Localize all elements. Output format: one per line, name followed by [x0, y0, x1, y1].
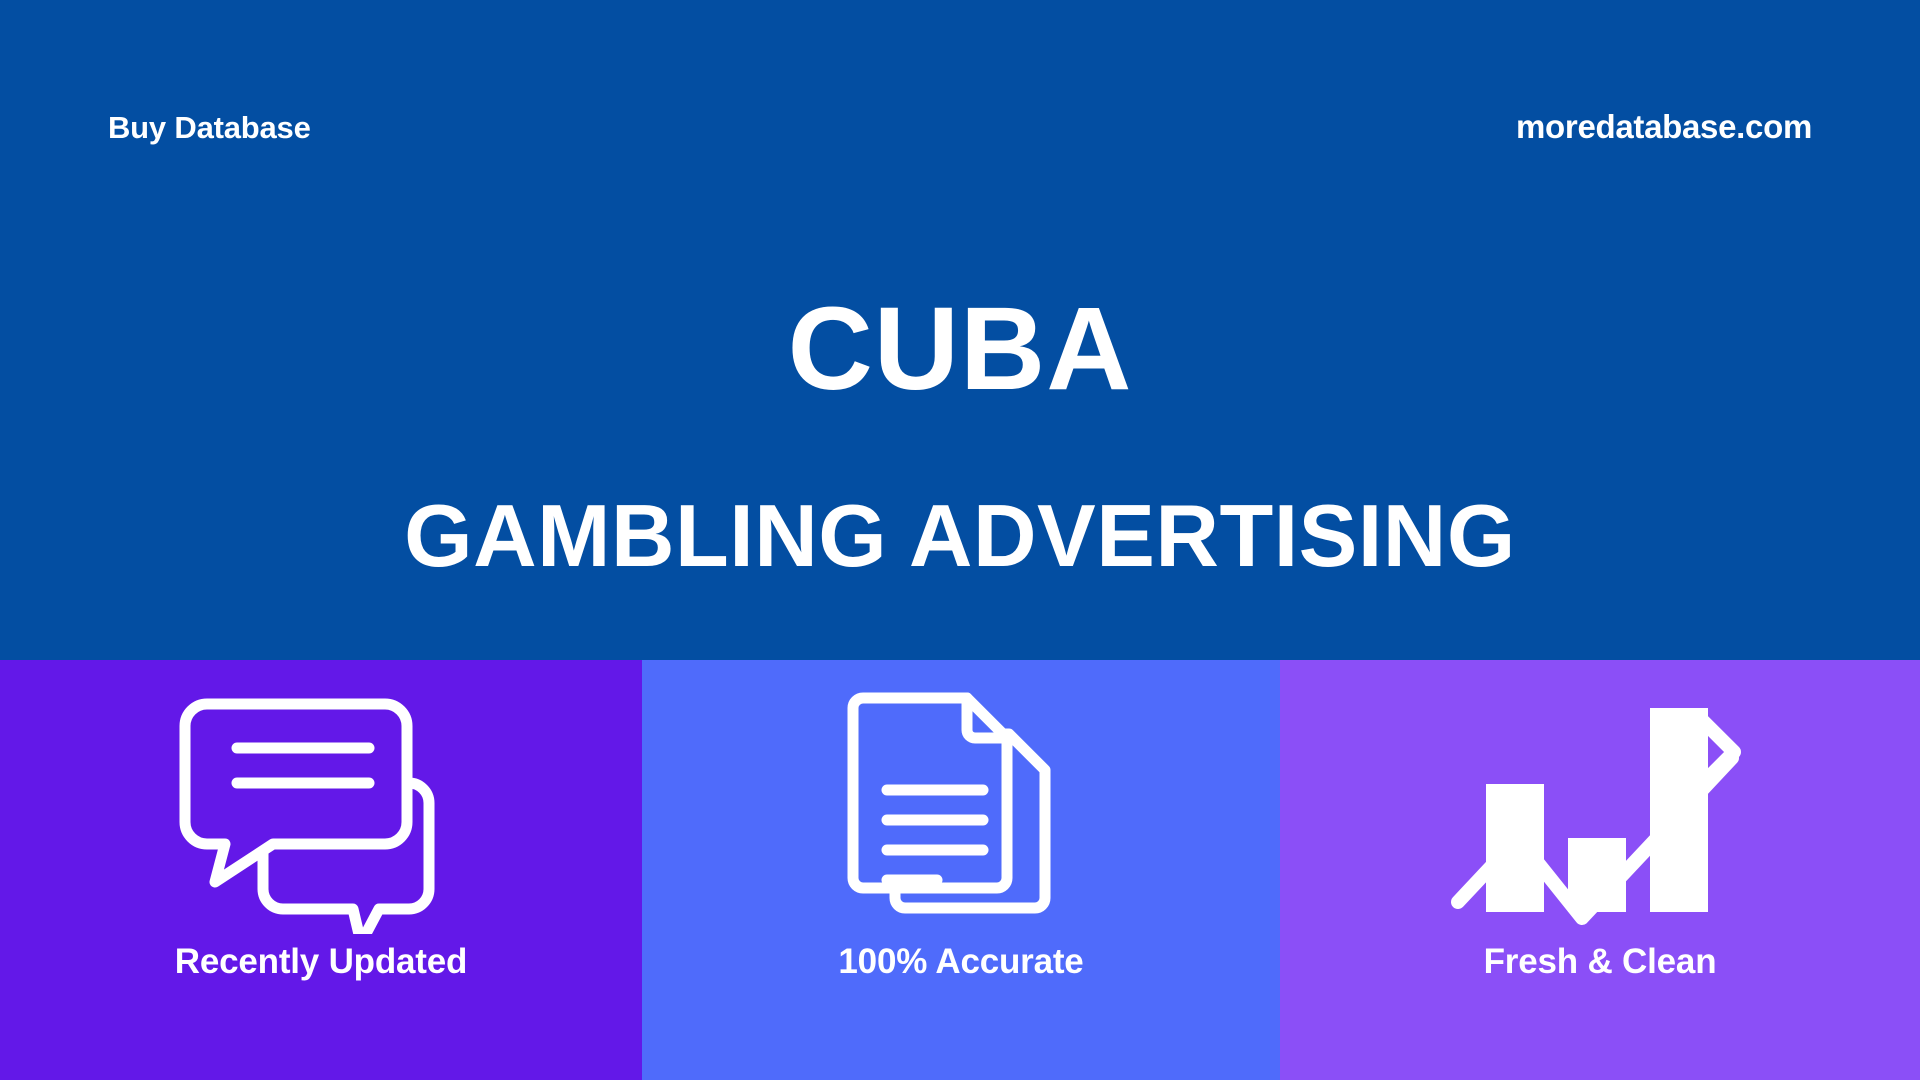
- document-pages-icon: [841, 686, 1081, 934]
- page-title: CUBA: [0, 290, 1920, 408]
- chat-bubbles-icon: [171, 686, 471, 934]
- feature-card-freshness: Fresh & Clean: [1280, 660, 1920, 1080]
- feature-label-accuracy: 100% Accurate: [838, 942, 1083, 982]
- site-url: moredatabase.com: [1516, 108, 1812, 146]
- feature-strip: Recently Updated: [0, 660, 1920, 1080]
- page-subtitle: GAMBLING ADVERTISING: [0, 490, 1920, 582]
- feature-label-freshness: Fresh & Clean: [1484, 942, 1717, 982]
- feature-card-accuracy: 100% Accurate: [642, 660, 1280, 1080]
- growth-chart-icon: [1450, 686, 1750, 934]
- brand-label: Buy Database: [108, 110, 311, 146]
- feature-card-recently-updated: Recently Updated: [0, 660, 642, 1080]
- hero-section: Buy Database moredatabase.com CUBA GAMBL…: [0, 0, 1920, 660]
- promo-banner: Buy Database moredatabase.com CUBA GAMBL…: [0, 0, 1920, 1080]
- feature-label-recently-updated: Recently Updated: [175, 942, 467, 982]
